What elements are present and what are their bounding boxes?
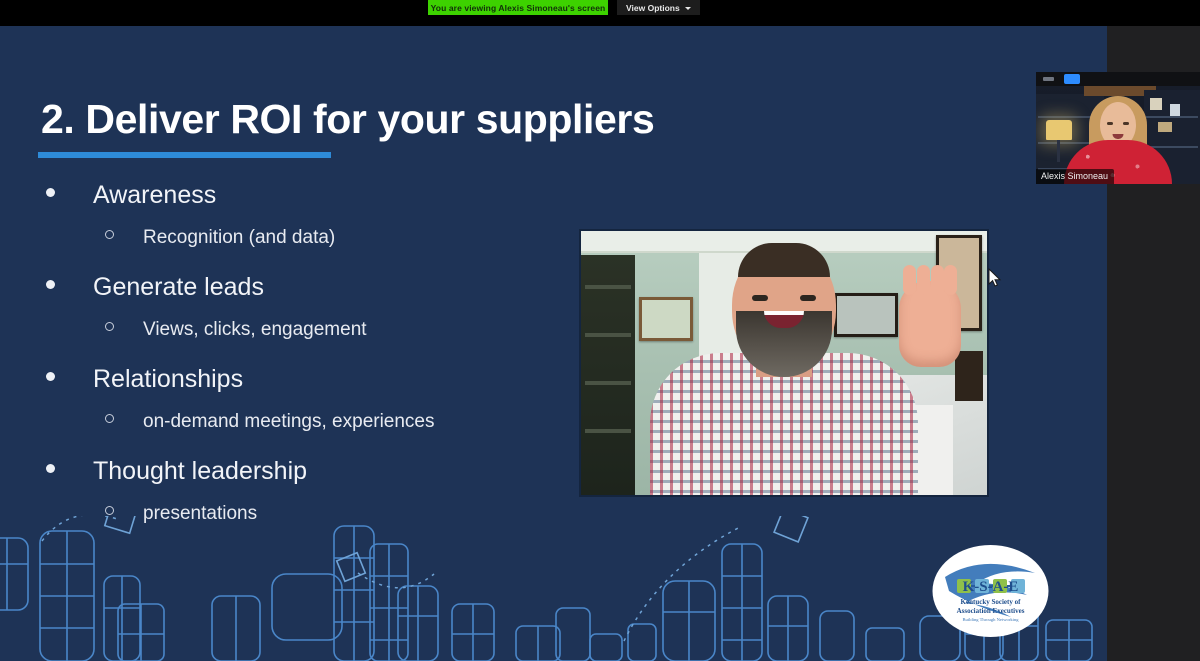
screen-share-banner: You are viewing Alexis Simoneau's screen bbox=[428, 0, 608, 15]
shared-slide[interactable]: 2. Deliver ROI for your suppliers Awaren… bbox=[0, 26, 1107, 661]
bullet-level2-label: Recognition (and data) bbox=[143, 227, 335, 249]
view-options-button[interactable]: View Options bbox=[617, 0, 700, 15]
bullet-ring-icon bbox=[105, 414, 114, 423]
thumbnail-person-mouth bbox=[1113, 134, 1124, 139]
video-waving-hand bbox=[899, 281, 961, 367]
meeting-top-bar: You are viewing Alexis Simoneau's screen… bbox=[0, 0, 1200, 26]
bullet-level1-label: Thought leadership bbox=[93, 457, 307, 486]
bullet-level2-label: on-demand meetings, experiences bbox=[143, 411, 435, 433]
bullet-level2: Recognition (and data) bbox=[46, 227, 586, 273]
bullet-level1: Awareness bbox=[46, 181, 586, 227]
bullet-level1-label: Relationships bbox=[93, 365, 243, 394]
bullet-ring-icon bbox=[105, 506, 114, 515]
presenter-video bbox=[579, 229, 989, 497]
chevron-down-icon bbox=[685, 7, 691, 10]
bullet-dot-icon bbox=[46, 188, 55, 197]
bullet-list: Awareness Recognition (and data) Generat… bbox=[46, 181, 586, 549]
logo-org-line2: Association Executives bbox=[957, 607, 1025, 615]
video-person-eye bbox=[752, 295, 768, 301]
bullet-level2-label: presentations bbox=[143, 503, 257, 525]
view-options-label: View Options bbox=[626, 3, 680, 13]
video-bedpost bbox=[955, 351, 983, 401]
bullet-level1: Thought leadership bbox=[46, 457, 586, 503]
bullet-level2: presentations bbox=[46, 503, 586, 549]
bullet-level2: Views, clicks, engagement bbox=[46, 319, 586, 365]
video-bookshelf bbox=[581, 255, 635, 495]
ksae-logo: K-S-A-E Kentucky Society of Association … bbox=[931, 543, 1050, 639]
maximize-icon[interactable] bbox=[1064, 74, 1080, 84]
bullet-ring-icon bbox=[105, 322, 114, 331]
logo-tagline: Building Through Networking bbox=[962, 617, 1019, 622]
video-person-head bbox=[732, 245, 836, 371]
title-accent-rule bbox=[38, 152, 331, 158]
page-title: 2. Deliver ROI for your suppliers bbox=[41, 96, 654, 143]
thumbnail-controls bbox=[1036, 72, 1200, 86]
mouse-cursor-icon bbox=[988, 268, 1002, 288]
bullet-level2-label: Views, clicks, engagement bbox=[143, 319, 367, 341]
bullet-dot-icon bbox=[46, 280, 55, 289]
bullet-ring-icon bbox=[105, 230, 114, 239]
bullet-level1: Relationships bbox=[46, 365, 586, 411]
participant-thumbnail[interactable]: Alexis Simoneau bbox=[1036, 72, 1200, 184]
zoom-meeting-window: You are viewing Alexis Simoneau's screen… bbox=[0, 0, 1200, 661]
thumbnail-person-eye bbox=[1107, 122, 1113, 125]
video-framed-picture bbox=[834, 293, 898, 337]
participant-name-label: Alexis Simoneau bbox=[1036, 169, 1114, 184]
video-person-eye bbox=[800, 295, 816, 301]
thumbnail-lamp-icon bbox=[1046, 120, 1072, 140]
minimize-icon[interactable] bbox=[1043, 77, 1054, 81]
bullet-level1-label: Awareness bbox=[93, 181, 216, 210]
video-framed-picture bbox=[639, 297, 693, 341]
bullet-dot-icon bbox=[46, 372, 55, 381]
bullet-level1: Generate leads bbox=[46, 273, 586, 319]
thumbnail-video: Alexis Simoneau bbox=[1036, 86, 1200, 184]
bullet-dot-icon bbox=[46, 464, 55, 473]
logo-acronym: K-S-A-E bbox=[963, 579, 1019, 595]
thumbnail-lamp-stem bbox=[1057, 140, 1060, 162]
thumbnail-person-eye bbox=[1123, 122, 1129, 125]
bullet-level1-label: Generate leads bbox=[93, 273, 264, 302]
logo-org-line1: Kentucky Society of bbox=[961, 598, 1022, 606]
bullet-level2: on-demand meetings, experiences bbox=[46, 411, 586, 457]
